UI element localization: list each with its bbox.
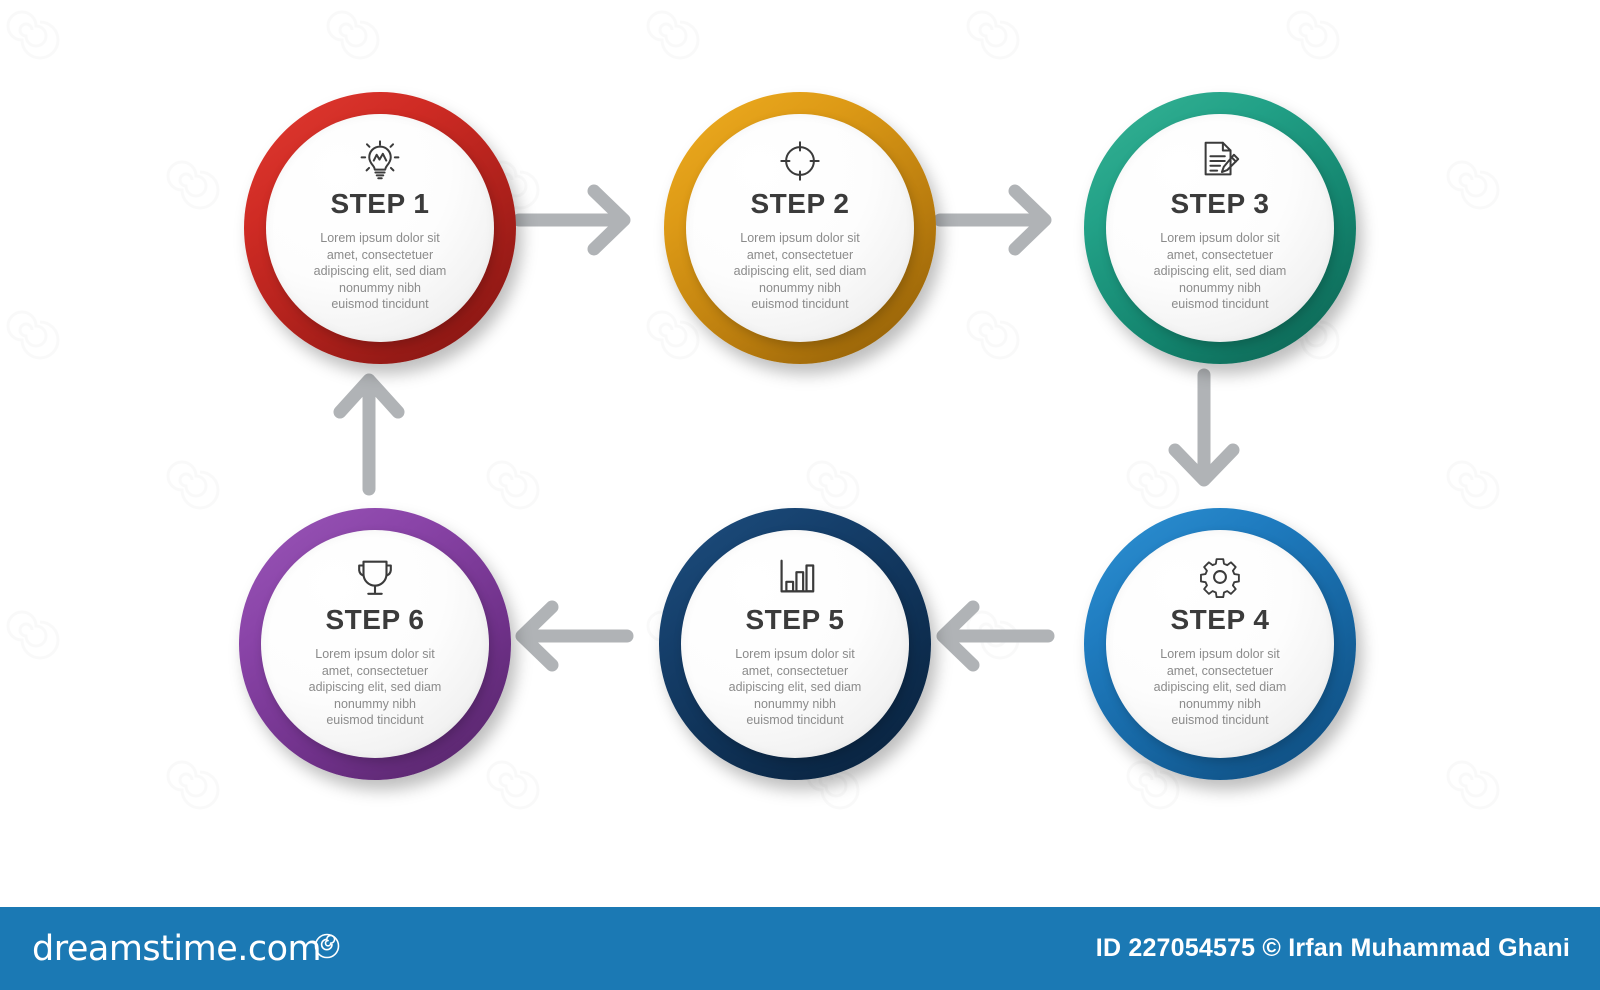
step-6-description: Lorem ipsum dolor sit amet, consectetuer…	[286, 646, 464, 729]
step-node-2[interactable]: STEP 2 Lorem ipsum dolor sit amet, conse…	[664, 92, 936, 364]
target-crosshair-icon	[775, 136, 825, 186]
step-4-title: STEP 4	[1171, 606, 1270, 634]
image-credit-text: ID 227054575 © Irfan Muhammad Ghani	[1096, 934, 1570, 963]
step-6-inner-disc: STEP 6 Lorem ipsum dolor sit amet, conse…	[261, 530, 489, 758]
step-1-description: Lorem ipsum dolor sit amet, consectetuer…	[291, 230, 469, 313]
dreamstime-spiral-logo-icon	[314, 933, 340, 959]
step-3-description: Lorem ipsum dolor sit amet, consectetuer…	[1131, 230, 1309, 313]
step-5-description: Lorem ipsum dolor sit amet, consectetuer…	[706, 646, 884, 729]
step-node-5[interactable]: STEP 5 Lorem ipsum dolor sit amet, conse…	[659, 508, 931, 780]
step-5-inner-disc: STEP 5 Lorem ipsum dolor sit amet, conse…	[681, 530, 909, 758]
step-2-description: Lorem ipsum dolor sit amet, consectetuer…	[711, 230, 889, 313]
step-2-inner-disc: STEP 2 Lorem ipsum dolor sit amet, conse…	[686, 114, 914, 342]
step-node-3[interactable]: STEP 3 Lorem ipsum dolor sit amet, conse…	[1084, 92, 1356, 364]
arrow-step6-to-step1	[327, 366, 411, 496]
arrow-step5-to-step6	[508, 594, 634, 678]
infographic-canvas: STEP 1 Lorem ipsum dolor sit amet, conse…	[0, 0, 1600, 990]
arrow-step1-to-step2	[512, 178, 638, 262]
step-5-title: STEP 5	[746, 606, 845, 634]
step-node-6[interactable]: STEP 6 Lorem ipsum dolor sit amet, conse…	[239, 508, 511, 780]
dreamstime-logo[interactable]: dreamstime.com	[32, 929, 321, 969]
step-1-inner-disc: STEP 1 Lorem ipsum dolor sit amet, conse…	[266, 114, 494, 342]
step-node-4[interactable]: STEP 4 Lorem ipsum dolor sit amet, conse…	[1084, 508, 1356, 780]
step-4-description: Lorem ipsum dolor sit amet, consectetuer…	[1131, 646, 1309, 729]
bar-chart-icon	[770, 552, 820, 602]
arrow-step3-to-step4	[1162, 368, 1246, 494]
step-6-title: STEP 6	[326, 606, 425, 634]
document-edit-pencil-icon	[1195, 136, 1245, 186]
step-3-title: STEP 3	[1171, 190, 1270, 218]
step-4-inner-disc: STEP 4 Lorem ipsum dolor sit amet, conse…	[1106, 530, 1334, 758]
arrow-step4-to-step5	[929, 594, 1055, 678]
dreamstime-logo-text: dreamstime.com	[32, 929, 321, 969]
lightbulb-idea-icon	[355, 136, 405, 186]
gear-settings-icon	[1195, 552, 1245, 602]
step-2-title: STEP 2	[751, 190, 850, 218]
step-1-title: STEP 1	[331, 190, 430, 218]
arrow-step2-to-step3	[933, 178, 1059, 262]
stock-footer-bar: dreamstime.com ID 227054575 © Irfan Muha…	[0, 907, 1600, 990]
trophy-award-icon	[350, 552, 400, 602]
step-node-1[interactable]: STEP 1 Lorem ipsum dolor sit amet, conse…	[244, 92, 516, 364]
step-3-inner-disc: STEP 3 Lorem ipsum dolor sit amet, conse…	[1106, 114, 1334, 342]
